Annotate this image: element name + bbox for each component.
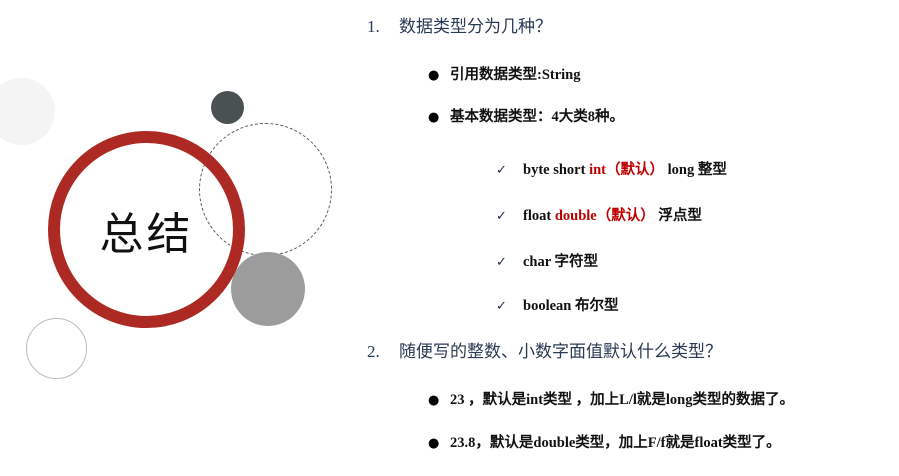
checkmark-icon: ✓ — [496, 300, 523, 313]
decorative-panel: 总结 — [0, 0, 350, 476]
check-item-1: ✓ byte short int（默认） long 整型 — [496, 158, 727, 179]
question-number-2: 2. — [367, 342, 399, 362]
check-text-2-post: 浮点型 — [655, 208, 702, 224]
bullet-dot-icon: ● — [428, 437, 450, 450]
question-number-1: 1. — [367, 17, 399, 37]
check-text-1-post: long 整型 — [664, 162, 727, 178]
check-text-1-pre: byte short — [523, 162, 589, 178]
question-item-1: 1. 数据类型分为几种？ — [367, 12, 552, 37]
slide-title: 总结 — [48, 131, 245, 328]
bullet-dot-icon: ● — [428, 111, 450, 124]
check-text-3: char 字符型 — [523, 250, 598, 271]
check-text-3-pre: char 字符型 — [523, 254, 598, 270]
bullet-item-1-2: ● 基本数据类型：4大类8种。 — [428, 105, 624, 126]
bullet-item-2-1: ● 23 ，默认是int类型 ，加上L/l就是long类型的数据了。 — [428, 388, 794, 409]
check-text-1: byte short int（默认） long 整型 — [523, 158, 727, 179]
question-text-2: 随便写的整数、小数字面值默认什么类型？ — [399, 337, 722, 362]
bullet-text-2-1: 23 ，默认是int类型 ，加上L/l就是long类型的数据了。 — [450, 388, 794, 409]
check-text-4: boolean 布尔型 — [523, 294, 618, 315]
check-item-2: ✓ float double（默认） 浮点型 — [496, 204, 702, 225]
bullet-item-2-2: ● 23.8，默认是double类型，加上F/f就是float类型了。 — [428, 431, 781, 452]
checkmark-icon: ✓ — [496, 210, 523, 223]
check-text-2-pre: float — [523, 208, 555, 224]
bullet-dot-icon: ● — [428, 394, 450, 407]
question-text-1: 数据类型分为几种？ — [399, 12, 552, 37]
light-gray-circle-decoration — [0, 78, 55, 145]
bullet-item-1-1: ● 引用数据类型:String — [428, 63, 581, 84]
check-text-2-highlight: double（默认） — [555, 208, 655, 224]
bullet-text-1-2: 基本数据类型：4大类8种。 — [450, 105, 624, 126]
question-item-2: 2. 随便写的整数、小数字面值默认什么类型？ — [367, 337, 722, 362]
check-text-4-pre: boolean 布尔型 — [523, 298, 618, 314]
check-text-1-highlight: int（默认） — [589, 162, 664, 178]
check-text-2: float double（默认） 浮点型 — [523, 204, 702, 225]
checkmark-icon: ✓ — [496, 164, 523, 177]
bullet-text-2-2: 23.8，默认是double类型，加上F/f就是float类型了。 — [450, 431, 781, 452]
bullet-text-1-1: 引用数据类型:String — [450, 63, 581, 84]
content-panel: 1. 数据类型分为几种？ ● 引用数据类型:String ● 基本数据类型：4大… — [350, 0, 899, 476]
check-item-3: ✓ char 字符型 — [496, 250, 598, 271]
check-item-4: ✓ boolean 布尔型 — [496, 294, 618, 315]
checkmark-icon: ✓ — [496, 256, 523, 269]
dark-gray-circle-decoration — [211, 91, 244, 124]
bullet-dot-icon: ● — [428, 69, 450, 82]
slide-root: 总结 1. 数据类型分为几种？ ● 引用数据类型:String ● 基本数据类型… — [0, 0, 899, 476]
